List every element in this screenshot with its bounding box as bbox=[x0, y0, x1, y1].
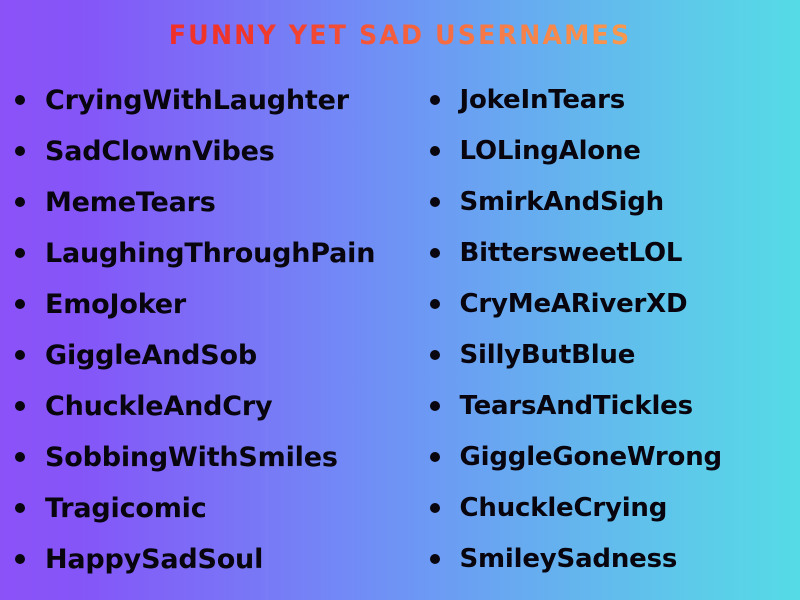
username-list-right: JokeInTears LOLingAlone SmirkAndSigh Bit… bbox=[415, 74, 800, 584]
username-label: JokeInTears bbox=[460, 85, 626, 115]
username-label: SobbingWithSmiles bbox=[45, 442, 338, 473]
list-item: EmoJoker bbox=[13, 278, 415, 329]
list-item: GiggleGoneWrong bbox=[428, 431, 800, 482]
page-title: Funny Yet Sad Usernames bbox=[169, 20, 631, 51]
username-columns: CryingWithLaughter SadClownVibes MemeTea… bbox=[0, 74, 800, 600]
list-item: Tragicomic bbox=[13, 482, 415, 533]
title-bar: Funny Yet Sad Usernames bbox=[0, 18, 800, 52]
list-item: SillyButBlue bbox=[428, 329, 800, 380]
bullet-icon bbox=[15, 299, 25, 309]
username-label: SmirkAndSigh bbox=[460, 187, 664, 217]
username-label: SadClownVibes bbox=[45, 136, 275, 167]
username-label: ChuckleAndCry bbox=[45, 391, 272, 422]
bullet-icon bbox=[430, 146, 440, 156]
list-item: SmirkAndSigh bbox=[428, 176, 800, 227]
bullet-icon bbox=[15, 452, 25, 462]
bullet-icon bbox=[15, 401, 25, 411]
bullet-icon bbox=[15, 146, 25, 156]
username-label: Tragicomic bbox=[45, 493, 207, 524]
username-label: MemeTears bbox=[45, 187, 216, 218]
list-item: GiggleAndSob bbox=[13, 329, 415, 380]
bullet-icon bbox=[430, 350, 440, 360]
list-item: CryingWithLaughter bbox=[13, 74, 415, 125]
username-label: GiggleGoneWrong bbox=[460, 442, 722, 472]
list-item: SmileySadness bbox=[428, 533, 800, 584]
bullet-icon bbox=[15, 350, 25, 360]
username-label: GiggleAndSob bbox=[45, 340, 257, 371]
poster-canvas: Funny Yet Sad Usernames CryingWithLaught… bbox=[0, 0, 800, 600]
username-label: SmileySadness bbox=[460, 544, 678, 574]
bullet-icon bbox=[15, 95, 25, 105]
bullet-icon bbox=[430, 401, 440, 411]
list-item: HappySadSoul bbox=[13, 533, 415, 584]
username-label: SillyButBlue bbox=[460, 340, 636, 370]
bullet-icon bbox=[430, 503, 440, 513]
bullet-icon bbox=[15, 554, 25, 564]
bullet-icon bbox=[430, 248, 440, 258]
list-item: SobbingWithSmiles bbox=[13, 431, 415, 482]
username-label: EmoJoker bbox=[45, 289, 186, 320]
list-item: ChuckleAndCry bbox=[13, 380, 415, 431]
username-label: CryMeARiverXD bbox=[460, 289, 688, 319]
bullet-icon bbox=[15, 248, 25, 258]
username-label: HappySadSoul bbox=[45, 544, 263, 575]
username-label: BittersweetLOL bbox=[460, 238, 683, 268]
username-label: ChuckleCrying bbox=[460, 493, 668, 523]
bullet-icon bbox=[15, 197, 25, 207]
list-item: MemeTears bbox=[13, 176, 415, 227]
bullet-icon bbox=[430, 197, 440, 207]
list-item: BittersweetLOL bbox=[428, 227, 800, 278]
list-item: LOLingAlone bbox=[428, 125, 800, 176]
username-label: LOLingAlone bbox=[460, 136, 641, 166]
list-item: SadClownVibes bbox=[13, 125, 415, 176]
list-item: JokeInTears bbox=[428, 74, 800, 125]
bullet-icon bbox=[430, 554, 440, 564]
list-item: CryMeARiverXD bbox=[428, 278, 800, 329]
username-list-left: CryingWithLaughter SadClownVibes MemeTea… bbox=[0, 74, 415, 584]
list-item: LaughingThroughPain bbox=[13, 227, 415, 278]
bullet-icon bbox=[15, 503, 25, 513]
username-label: CryingWithLaughter bbox=[45, 85, 349, 116]
list-item: ChuckleCrying bbox=[428, 482, 800, 533]
bullet-icon bbox=[430, 95, 440, 105]
username-label: LaughingThroughPain bbox=[45, 238, 375, 269]
bullet-icon bbox=[430, 299, 440, 309]
bullet-icon bbox=[430, 452, 440, 462]
list-item: TearsAndTickles bbox=[428, 380, 800, 431]
username-label: TearsAndTickles bbox=[460, 391, 693, 421]
